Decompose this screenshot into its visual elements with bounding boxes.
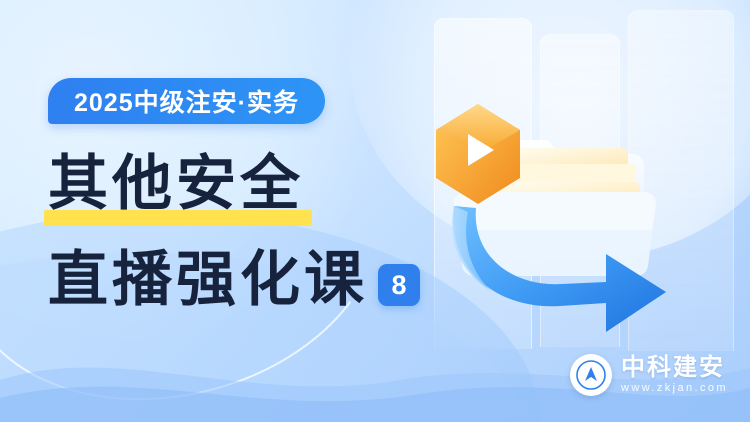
brand-text: 中科建安 www.zkjan.com xyxy=(621,355,728,395)
title-line-2-row: 直播强化课 8 xyxy=(48,246,420,314)
course-subject-badge: 2025中级注安·实务 xyxy=(48,78,325,124)
compass-logo-icon xyxy=(570,354,612,396)
page-title-line1: 其他安全 xyxy=(48,150,304,218)
title-line-1-row: 其他安全 xyxy=(48,150,304,218)
course-poster: 2025中级注安·实务 其他安全 直播强化课 8 中科建安 www.zkjan.… xyxy=(0,0,750,422)
episode-number-badge: 8 xyxy=(378,264,420,306)
brand-url: www.zkjan.com xyxy=(621,381,728,395)
poster-text-content: 2025中级注安·实务 其他安全 直播强化课 8 xyxy=(0,0,430,422)
brand-logo: 中科建安 www.zkjan.com xyxy=(570,354,728,396)
brand-name: 中科建安 xyxy=(621,355,728,381)
illustration-group xyxy=(420,96,730,346)
page-title-line2: 直播强化课 xyxy=(48,246,368,314)
